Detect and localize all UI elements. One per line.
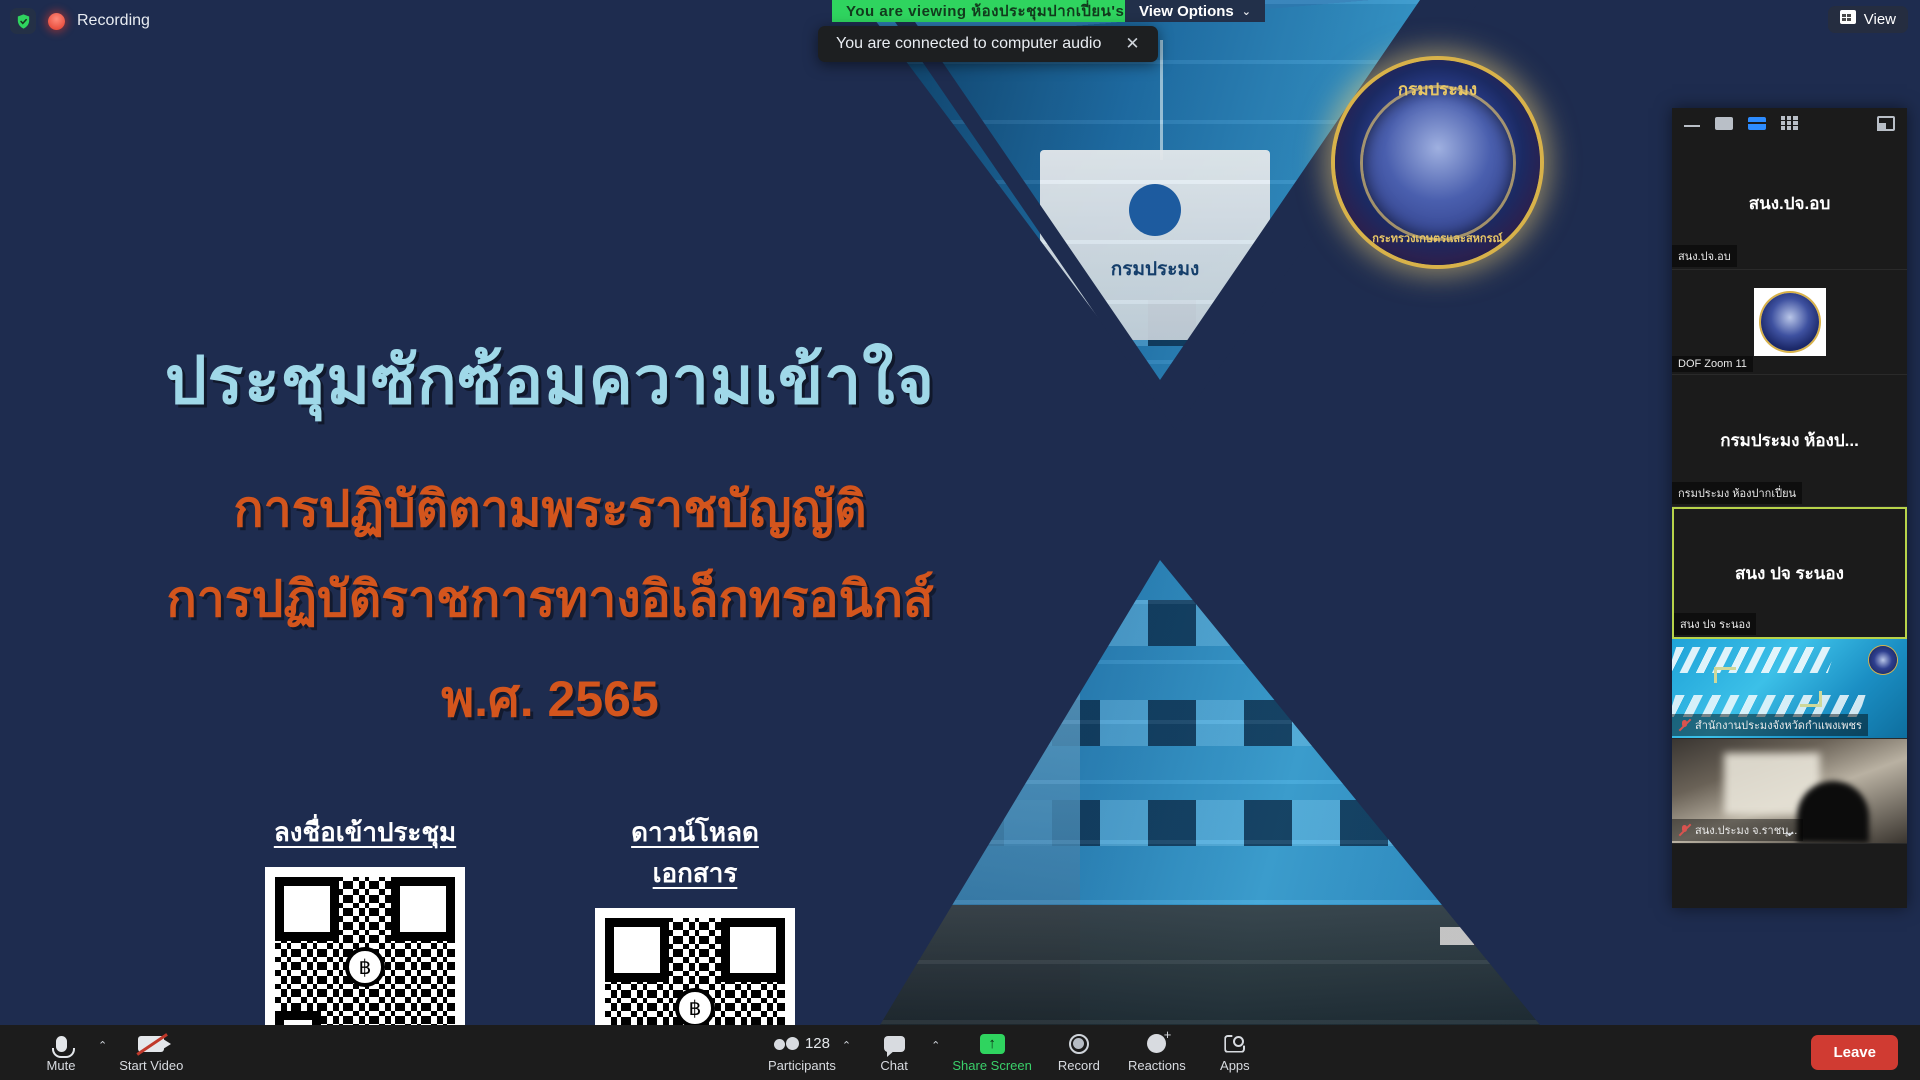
qr-center-glyph: ฿ — [345, 947, 385, 987]
dof-logo-avatar — [1754, 288, 1826, 356]
participants-caret[interactable]: ⌃ — [842, 1039, 851, 1052]
chevron-down-icon: ⌄ — [1242, 5, 1251, 18]
building-sign: กรมประมง — [1040, 150, 1270, 340]
close-icon[interactable]: ✕ — [1125, 34, 1139, 54]
dof-emblem: กรมประมง กระทรวงเกษตรและสหกรณ์ — [1335, 60, 1540, 265]
slide-title-line1: ประชุมซักซ้อมความเข้าใจ — [40, 328, 1060, 433]
zoom-meeting-window: กรมประมง กรมประมง กระทรวงเกษตรและสหกรณ์ … — [0, 0, 1920, 1080]
qr-code-signin: ฿ — [265, 867, 465, 1025]
apps-label: Apps — [1220, 1058, 1250, 1073]
recording-indicator: Recording — [10, 8, 150, 34]
share-screen-label: Share Screen — [952, 1058, 1032, 1073]
slide-content: ประชุมซักซ้อมความเข้าใจ การปฏิบัติตามพระ… — [0, 0, 1060, 1025]
participant-display-name: สนง ปจ ระนอง — [1735, 560, 1844, 587]
camera-off-icon — [138, 1033, 164, 1055]
share-screen-button[interactable]: ↑ Share Screen — [944, 1033, 1040, 1073]
participant-badge-text: สำนักงานประมงจังหวัดกำแพงเพชร — [1695, 716, 1862, 734]
mic-muted-icon — [1678, 824, 1690, 836]
mute-button[interactable]: Mute — [22, 1033, 100, 1073]
chat-caret[interactable]: ⌃ — [931, 1039, 940, 1052]
slide-title-line3: การปฏิบัติราชการทางอิเล็กทรอนิกส์ — [40, 560, 1060, 639]
participant-badge-text: กรมประมง ห้องปากเปี่ยน — [1678, 484, 1796, 502]
participant-badge-text: สนง ปจ ระนอง — [1680, 615, 1750, 633]
record-dot-icon — [48, 13, 65, 30]
emblem-top-text: กรมประมง — [1335, 76, 1540, 103]
popout-icon[interactable] — [1877, 116, 1895, 131]
view-button-label: View — [1864, 11, 1896, 28]
smiley-plus-icon — [1147, 1033, 1166, 1055]
participants-filmstrip-panel: สนง.ปจ.อบ สนง.ปจ.อบ DOF Zoom 11 กรมประมง… — [1672, 108, 1907, 908]
share-screen-icon: ↑ — [980, 1033, 1005, 1055]
filmstrip-window-controls — [1672, 108, 1907, 138]
participant-tiles: สนง.ปจ.อบ สนง.ปจ.อบ DOF Zoom 11 กรมประมง… — [1672, 138, 1907, 908]
qr-item-signin: ลงชื่อเข้าประชุม ฿ — [265, 812, 465, 1025]
qr-section: ลงชื่อเข้าประชุม ฿ ดาวน์โหลดเอกสาร ฿ — [0, 812, 1060, 1025]
share-arrow-icon: ↑ — [980, 1034, 1005, 1054]
chat-bubble-icon — [884, 1033, 905, 1055]
participants-button[interactable]: 128 Participants — [760, 1033, 844, 1073]
view-button[interactable]: View — [1828, 6, 1908, 33]
dof-logo-icon — [1869, 646, 1897, 674]
recording-label: Recording — [77, 12, 150, 30]
participant-display-name: กรมประมง ห้องป... — [1720, 427, 1859, 454]
chat-label: Chat — [880, 1058, 907, 1073]
mute-label: Mute — [47, 1058, 76, 1073]
audio-options-caret[interactable]: ⌃ — [98, 1039, 107, 1052]
slide-title-line4: พ.ศ. 2565 — [40, 660, 1060, 739]
participants-count: 128 — [805, 1035, 830, 1052]
building-sign-text: กรมประมง — [1040, 254, 1270, 284]
single-view-icon[interactable] — [1715, 117, 1733, 130]
participant-badge-text: สนง.ปจ.อบ — [1678, 247, 1731, 265]
chat-button[interactable]: Chat — [855, 1033, 933, 1073]
microphone-icon — [56, 1033, 67, 1055]
split-view-icon[interactable] — [1748, 117, 1766, 130]
audio-toast-text: You are connected to computer audio — [836, 35, 1101, 53]
qr-item-download: ดาวน์โหลดเอกสาร ฿ — [595, 812, 795, 1025]
toolbar-center-group: 128 Participants ⌃ Chat ⌃ ↑ Share Screen… — [760, 1033, 1274, 1073]
reactions-label: Reactions — [1128, 1058, 1186, 1073]
participant-name-badge: กรมประมง ห้องปากเปี่ยน — [1672, 482, 1802, 504]
shield-check-icon[interactable] — [10, 8, 36, 34]
view-options-label: View Options — [1139, 3, 1234, 20]
record-button[interactable]: Record — [1040, 1033, 1118, 1073]
record-label: Record — [1058, 1058, 1100, 1073]
minimize-icon[interactable] — [1684, 119, 1700, 127]
participant-tile[interactable]: สนง.ประมง จ.ราชบุ... ⌄ — [1672, 739, 1907, 844]
apps-button[interactable]: Apps — [1196, 1033, 1274, 1073]
participant-name-badge: สนง.ปจ.อบ — [1672, 245, 1737, 267]
participant-name-badge: สำนักงานประมงจังหวัดกำแพงเพชร — [1672, 714, 1868, 736]
participant-tile[interactable]: สำนักงานประมงจังหวัดกำแพงเพชร — [1672, 639, 1907, 739]
start-video-label: Start Video — [119, 1058, 183, 1073]
qr-center-glyph: ฿ — [675, 988, 715, 1025]
emblem-bottom-text: กระทรวงเกษตรและสหกรณ์ — [1335, 229, 1540, 247]
leave-button[interactable]: Leave — [1811, 1035, 1898, 1070]
start-video-button[interactable]: Start Video — [111, 1033, 191, 1073]
participant-tile-active-speaker[interactable]: สนง ปจ ระนอง สนง ปจ ระนอง — [1672, 507, 1907, 639]
toolbar-left-group: Mute ⌃ Start Video — [0, 1033, 191, 1073]
view-options-button[interactable]: View Options ⌄ — [1125, 0, 1265, 22]
participants-label: Participants — [768, 1058, 836, 1073]
grid-view-icon[interactable] — [1781, 116, 1798, 130]
grid-view-icon — [1840, 10, 1856, 29]
people-icon: 128 — [774, 1033, 830, 1055]
shared-screen-stage: กรมประมง กรมประมง กระทรวงเกษตรและสหกรณ์ … — [0, 0, 1920, 1025]
chevron-down-icon[interactable]: ⌄ — [1782, 820, 1797, 841]
qr-code-download: ฿ — [595, 908, 795, 1025]
apps-icon — [1224, 1033, 1245, 1055]
audio-connected-toast: You are connected to computer audio ✕ — [818, 26, 1158, 62]
mic-muted-icon — [1678, 719, 1690, 731]
participant-badge-text: DOF Zoom 11 — [1678, 358, 1747, 370]
participant-name-badge: สนง ปจ ระนอง — [1674, 613, 1756, 635]
participant-tile[interactable]: สนง.ปจ.อบ สนง.ปจ.อบ — [1672, 138, 1907, 270]
reactions-button[interactable]: Reactions — [1118, 1033, 1196, 1073]
slide-title-line2: การปฏิบัติตามพระราชบัญญัติ — [40, 470, 1060, 549]
qr-label-download: ดาวน์โหลดเอกสาร — [595, 812, 795, 894]
record-circle-icon — [1069, 1033, 1089, 1055]
participant-display-name: สนง.ปจ.อบ — [1749, 190, 1831, 217]
participant-name-badge: DOF Zoom 11 — [1672, 356, 1753, 372]
participant-tile[interactable]: DOF Zoom 11 — [1672, 270, 1907, 375]
meeting-toolbar: Mute ⌃ Start Video 128 Participants ⌃ Ch… — [0, 1025, 1920, 1080]
qr-label-signin: ลงชื่อเข้าประชุม — [265, 812, 465, 853]
participant-tile[interactable]: กรมประมง ห้องป... กรมประมง ห้องปากเปี่ยน — [1672, 375, 1907, 507]
